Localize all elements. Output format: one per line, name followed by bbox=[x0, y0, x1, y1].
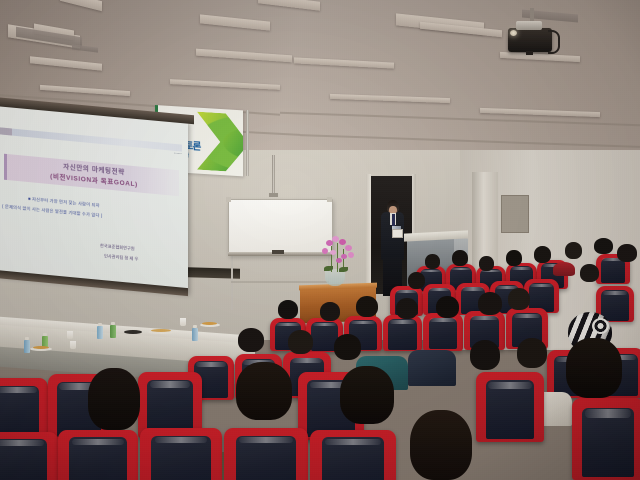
whiteboard-surface bbox=[228, 199, 333, 256]
speaker-necktie bbox=[392, 214, 395, 226]
doorway-jamb-left bbox=[366, 174, 371, 296]
audience-head-with-cap bbox=[594, 238, 613, 254]
seat-back-pad bbox=[429, 318, 458, 350]
audience-head bbox=[436, 296, 459, 318]
banner-chevron-icon bbox=[197, 112, 243, 173]
seat[interactable] bbox=[423, 313, 463, 351]
audience-head bbox=[320, 302, 340, 321]
audience-head bbox=[396, 298, 418, 319]
seat-gloss bbox=[292, 358, 323, 363]
lecture-hall-photo: •••••• 자신만의 마케팅전략 (비전VISION과 목표GOAL) ■ 자… bbox=[0, 0, 640, 480]
seat-gloss bbox=[429, 288, 450, 291]
audience-head-red-cap bbox=[553, 262, 575, 276]
seat-gloss bbox=[512, 267, 532, 270]
whiteboard-corner-cap bbox=[327, 197, 332, 202]
seat-gloss bbox=[196, 362, 225, 366]
seat-gloss bbox=[313, 323, 337, 326]
audience-jacket bbox=[408, 350, 456, 386]
seat[interactable] bbox=[58, 430, 138, 480]
seat-gloss bbox=[0, 387, 37, 393]
seat-gloss bbox=[462, 287, 484, 290]
slide-header-text: •••••• bbox=[174, 152, 182, 156]
projection-screen: •••••• 자신만의 마케팅전략 (비전VISION과 목표GOAL) ■ 자… bbox=[0, 103, 188, 293]
audience-head bbox=[617, 244, 637, 262]
audience-long-hair bbox=[236, 362, 292, 420]
slide-header-bar bbox=[2, 128, 182, 152]
audience-head bbox=[452, 250, 468, 266]
audience-head bbox=[408, 272, 425, 289]
doorway-header bbox=[366, 172, 416, 176]
audience-head bbox=[425, 254, 440, 269]
audience-head bbox=[580, 264, 599, 282]
slide-footer-line-1: 한국표준협회연구원 bbox=[100, 243, 135, 252]
seat[interactable] bbox=[572, 398, 640, 480]
seat[interactable] bbox=[476, 372, 544, 442]
seat-back-pad bbox=[582, 408, 634, 477]
seat[interactable] bbox=[224, 428, 308, 480]
seat-back-pad bbox=[601, 290, 628, 320]
audience-head bbox=[565, 242, 582, 259]
projector-cable bbox=[548, 30, 560, 54]
audience-head bbox=[506, 250, 522, 266]
whiteboard-stand-crossbar bbox=[231, 281, 329, 283]
seat-gloss bbox=[488, 382, 532, 389]
audience-long-hair bbox=[566, 338, 622, 398]
audience-head bbox=[278, 300, 298, 319]
audience-head bbox=[356, 296, 378, 317]
orchid-bloom bbox=[332, 236, 339, 242]
snack-food bbox=[151, 329, 171, 332]
orchid-bloom bbox=[348, 252, 354, 258]
audience-head bbox=[238, 328, 264, 352]
banner-support-pole bbox=[246, 110, 249, 176]
seat-gloss bbox=[351, 321, 375, 325]
audience-head bbox=[288, 330, 313, 354]
wall-access-panel bbox=[501, 195, 529, 233]
seat[interactable] bbox=[383, 315, 422, 351]
bottle-body bbox=[97, 326, 103, 339]
ceiling-pole-tip bbox=[269, 193, 278, 197]
orchid-bloom bbox=[345, 245, 352, 251]
orchid-bloom bbox=[339, 239, 346, 245]
projector-lens-icon bbox=[510, 30, 517, 36]
audience-head bbox=[517, 338, 547, 368]
flower-leaf bbox=[324, 266, 333, 271]
speaker-name-badge bbox=[392, 229, 403, 238]
snack-food bbox=[202, 322, 217, 325]
bottle-body bbox=[192, 328, 198, 341]
snack-food-dark bbox=[124, 330, 142, 334]
seat-gloss bbox=[530, 284, 552, 287]
audience-head bbox=[470, 340, 500, 370]
seat-gloss bbox=[276, 323, 299, 326]
seat[interactable] bbox=[140, 428, 222, 480]
whiteboard-corner-cap bbox=[226, 197, 231, 202]
audience-head bbox=[334, 334, 361, 360]
snack-food bbox=[33, 346, 49, 349]
seat-gloss bbox=[514, 314, 541, 318]
seat-gloss bbox=[150, 381, 191, 388]
audience-head bbox=[479, 256, 494, 271]
projector-ceiling-mount bbox=[530, 8, 534, 22]
orchid-bloom bbox=[341, 254, 347, 259]
orchid-bloom bbox=[336, 258, 342, 263]
paper-cup bbox=[67, 331, 73, 339]
whiteboard-eraser bbox=[272, 250, 284, 254]
audience-long-hair bbox=[88, 368, 140, 430]
seat-gloss bbox=[239, 437, 293, 443]
seat-gloss bbox=[72, 439, 123, 445]
seat-gloss bbox=[603, 291, 627, 295]
seat-gloss bbox=[471, 316, 497, 320]
seat[interactable] bbox=[310, 430, 396, 480]
ceiling-hanging-pole bbox=[272, 155, 275, 197]
orchid-bloom bbox=[322, 248, 328, 254]
flower-leaf bbox=[339, 267, 348, 272]
slide-header-tab bbox=[0, 127, 12, 136]
seat-gloss bbox=[155, 437, 207, 443]
seat-back-pad bbox=[486, 380, 535, 439]
seat-gloss bbox=[390, 320, 415, 324]
audience-head bbox=[478, 292, 502, 315]
seat-gloss bbox=[430, 318, 456, 322]
paper-cup bbox=[180, 318, 186, 326]
projector-top-cover bbox=[516, 21, 542, 30]
bottle-body bbox=[24, 340, 30, 353]
audience-long-hair bbox=[410, 410, 472, 480]
seat-gloss bbox=[585, 409, 631, 417]
audience-head bbox=[534, 246, 551, 263]
seat-gloss bbox=[325, 439, 380, 445]
seat-gloss bbox=[0, 440, 44, 446]
bottle-body bbox=[110, 325, 116, 338]
paper-cup bbox=[70, 341, 76, 349]
whiteboard-stand-leg bbox=[231, 256, 233, 310]
beanie-crown-swirl bbox=[592, 318, 609, 334]
seat-gloss bbox=[421, 270, 440, 273]
seat-gloss bbox=[396, 290, 417, 293]
audience-long-hair bbox=[340, 366, 394, 424]
projector-foot bbox=[526, 51, 533, 55]
slide-footer-line-2: 인사관리팀 정 제 우 bbox=[104, 253, 138, 262]
orchid-bloom bbox=[330, 250, 336, 255]
seat-back-pad bbox=[388, 319, 416, 349]
seat[interactable] bbox=[0, 432, 58, 480]
audience-head bbox=[508, 288, 530, 310]
